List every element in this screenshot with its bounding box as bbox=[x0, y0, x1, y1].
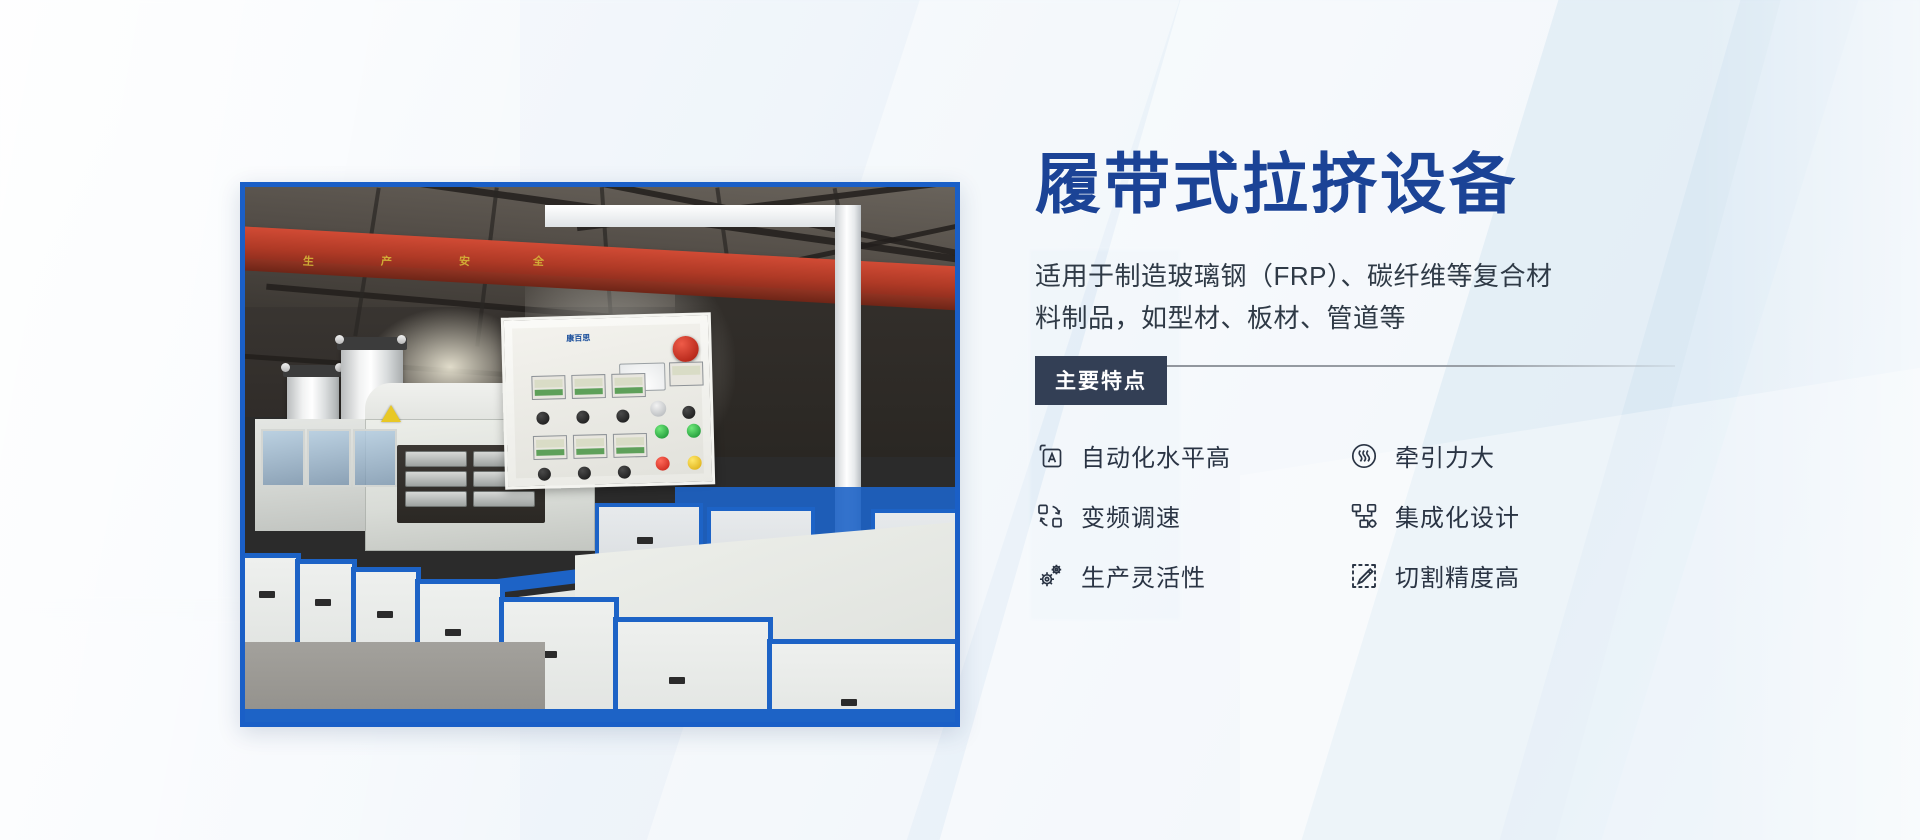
product-subtitle: 适用于制造玻璃钢（FRP）、碳纤维等复合材 料制品，如型材、板材、管道等 bbox=[1035, 255, 1675, 339]
status-badge: 主要特点 bbox=[1035, 356, 1167, 405]
gears-icon bbox=[1035, 561, 1065, 591]
feature-label: 自动化水平高 bbox=[1081, 438, 1231, 473]
traction-waves-icon bbox=[1349, 441, 1379, 471]
feature-label: 变频调速 bbox=[1081, 498, 1181, 533]
feature-label: 切割精度高 bbox=[1395, 558, 1520, 593]
feature-item-integration: 集成化设计 bbox=[1349, 498, 1649, 533]
auto-letter-a-icon bbox=[1035, 441, 1065, 471]
panel-brand-label: 康百思 bbox=[566, 332, 590, 344]
precision-cut-pen-icon bbox=[1349, 561, 1379, 591]
feature-label: 牵引力大 bbox=[1395, 438, 1495, 473]
page-title: 履带式拉挤设备 bbox=[1035, 150, 1715, 219]
feature-item-traction: 牵引力大 bbox=[1349, 438, 1649, 473]
banner-content: 履带式拉挤设备 适用于制造玻璃钢（FRP）、碳纤维等复合材 料制品，如型材、板材… bbox=[1035, 150, 1715, 606]
product-banner: 生 产 安 全 康百思 bbox=[0, 0, 1920, 840]
feature-item-cut-precision: 切割精度高 bbox=[1349, 558, 1649, 593]
feature-item-automation: 自动化水平高 bbox=[1035, 438, 1335, 473]
subtitle-line-1: 适用于制造玻璃钢（FRP）、碳纤维等复合材 bbox=[1035, 255, 1675, 297]
feature-label: 集成化设计 bbox=[1395, 498, 1520, 533]
frequency-transform-icon bbox=[1035, 501, 1065, 531]
feature-item-frequency: 变频调速 bbox=[1035, 498, 1335, 533]
feature-label: 生产灵活性 bbox=[1081, 558, 1206, 593]
subtitle-line-2: 料制品，如型材、板材、管道等 bbox=[1035, 297, 1675, 339]
section-divider-row: 主要特点 bbox=[1035, 364, 1715, 404]
machine-control-panel: 康百思 bbox=[501, 312, 715, 489]
product-photo: 生 产 安 全 康百思 bbox=[240, 182, 960, 727]
integration-hierarchy-icon bbox=[1349, 501, 1379, 531]
feature-list: 自动化水平高 牵引力大 bbox=[1035, 426, 1715, 606]
feature-item-flexibility: 生产灵活性 bbox=[1035, 558, 1335, 593]
